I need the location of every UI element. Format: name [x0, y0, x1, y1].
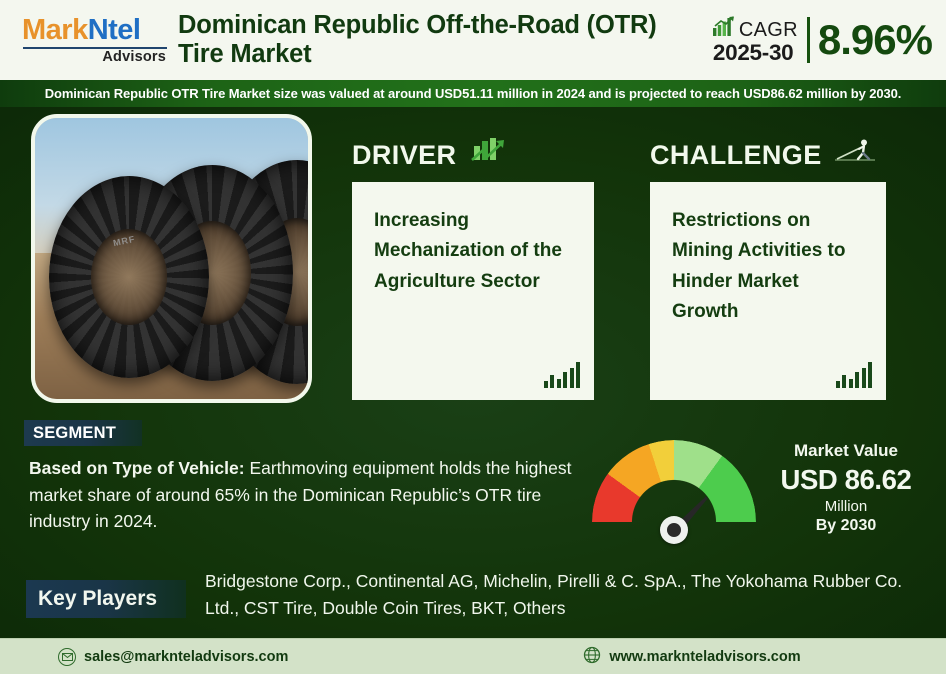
bar-chart-up-icon: [713, 16, 735, 40]
key-players-label: Key Players: [26, 580, 186, 618]
segment-lead: Based on Type of Vehicle:: [29, 458, 245, 478]
summary-banner: Dominican Republic OTR Tire Market size …: [0, 80, 946, 107]
cagr-label: CAGR: [739, 20, 798, 40]
page-title: Dominican Republic Off-the-Road (OTR) Ti…: [168, 11, 713, 69]
driver-heading: DRIVER: [352, 137, 508, 174]
segment-label: SEGMENT: [24, 420, 142, 446]
globe-icon: [583, 646, 601, 668]
footer-website[interactable]: www.marknteladvisors.com: [583, 646, 800, 668]
rope-pull-person-icon: [834, 137, 876, 174]
hero-tire-image: MRF: [31, 114, 312, 403]
footer-bar: sales@marknteladvisors.com www.markntela…: [0, 638, 946, 674]
segment-text: Based on Type of Vehicle: Earthmoving eq…: [29, 455, 577, 535]
bar-chart-icon: [836, 362, 873, 388]
logo-text-ntel: Ntel: [88, 14, 141, 46]
footer-email[interactable]: sales@marknteladvisors.com: [58, 648, 288, 666]
gauge-hub: [660, 516, 688, 544]
key-players-text: Bridgestone Corp., Continental AG, Miche…: [205, 568, 920, 622]
cagr-value: 8.96%: [818, 16, 932, 64]
driver-text: Increasing Mechanization of the Agricult…: [374, 206, 572, 297]
market-value-block: Market Value USD 86.62 Million By 2030: [756, 440, 936, 535]
logo-text-mark: Mark: [22, 14, 88, 46]
challenge-heading: CHALLENGE: [650, 137, 876, 174]
cagr-left: CAGR 2025-30: [713, 16, 807, 65]
cagr-top-row: CAGR: [713, 16, 798, 40]
cagr-divider: [807, 17, 810, 63]
logo-subtitle: Advisors: [22, 50, 166, 65]
footer-website-text: www.marknteladvisors.com: [609, 649, 800, 665]
challenge-text: Restrictions on Mining Activities to Hin…: [672, 206, 864, 328]
driver-box: Increasing Mechanization of the Agricult…: [352, 182, 594, 400]
envelope-icon: [58, 648, 76, 666]
tire-front: [49, 176, 209, 378]
infographic-page: MarkNtel Advisors Dominican Republic Off…: [0, 0, 946, 674]
market-value-amount: USD 86.62: [756, 464, 936, 496]
bar-chart-arrow-up-icon: [468, 137, 508, 174]
market-value-year: By 2030: [756, 517, 936, 535]
footer-email-text: sales@marknteladvisors.com: [84, 649, 288, 665]
bar-chart-icon: [544, 362, 581, 388]
cagr-years: 2025-30: [713, 42, 798, 65]
speedometer-gauge-icon: [592, 440, 756, 534]
market-value-title: Market Value: [756, 440, 936, 462]
challenge-heading-label: CHALLENGE: [650, 140, 822, 171]
company-logo[interactable]: MarkNtel Advisors: [0, 16, 168, 65]
header-bar: MarkNtel Advisors Dominican Republic Off…: [0, 0, 946, 80]
logo-wordmark: MarkNtel: [22, 16, 141, 45]
driver-heading-label: DRIVER: [352, 140, 456, 171]
market-value-unit: Million: [756, 498, 936, 515]
cagr-block: CAGR 2025-30 8.96%: [713, 16, 946, 65]
challenge-box: Restrictions on Mining Activities to Hin…: [650, 182, 886, 400]
